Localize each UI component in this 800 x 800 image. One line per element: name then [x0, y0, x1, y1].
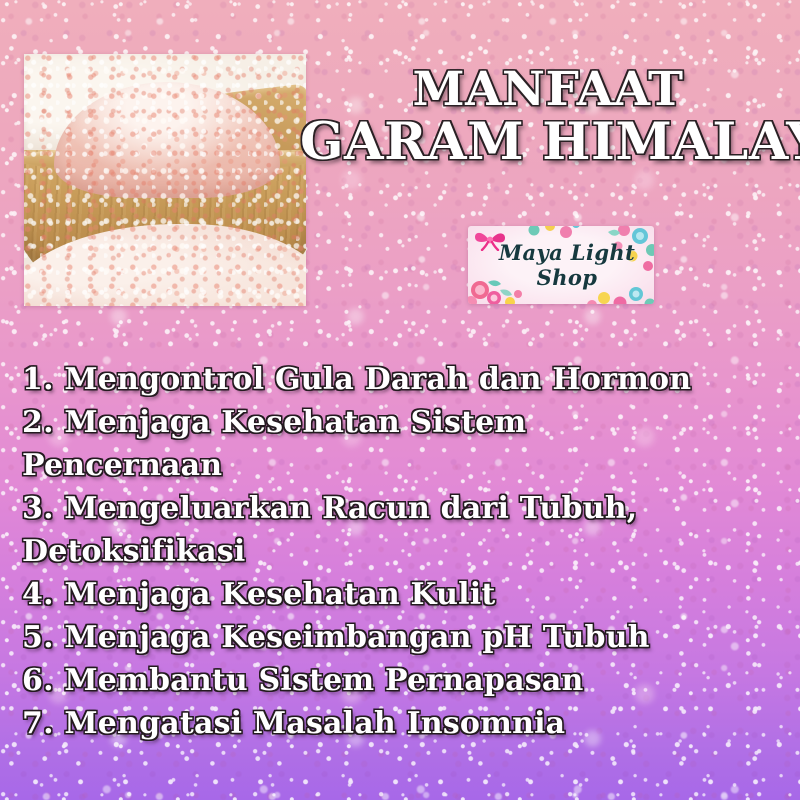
title-line-2: GARAM HIMALAYA: [300, 117, 796, 168]
benefit-line: 4. Menjaga Kesehatan Kulit: [22, 573, 782, 616]
brand-logo-card[interactable]: Maya Light Shop: [468, 226, 654, 304]
title-line-1: MANFAAT: [300, 66, 796, 113]
salt-grain-texture: [24, 54, 306, 306]
benefit-line: Pencernaan: [22, 444, 782, 487]
benefit-line: 3. Mengeluarkan Racun dari Tubuh,: [22, 487, 782, 530]
benefits-list: 1. Mengontrol Gula Darah dan Hormon 2. M…: [22, 358, 782, 745]
benefit-line: 5. Menjaga Keseimbangan pH Tubuh: [22, 616, 782, 659]
benefit-line: 6. Membantu Sistem Pernapasan: [22, 659, 782, 702]
himalayan-salt-photo: [24, 54, 306, 306]
benefit-line: Detoksifikasi: [22, 530, 782, 573]
benefit-line: 7. Mengatasi Masalah Insomnia: [22, 702, 782, 745]
benefit-line: 1. Mengontrol Gula Darah dan Hormon: [22, 358, 782, 401]
benefit-line: 2. Menjaga Kesehatan Sistem: [22, 401, 782, 444]
poster-root: MANFAAT GARAM HIMALAYA: [0, 0, 800, 800]
brand-name: Maya Light Shop: [468, 240, 654, 290]
page-title: MANFAAT GARAM HIMALAYA: [300, 66, 796, 168]
